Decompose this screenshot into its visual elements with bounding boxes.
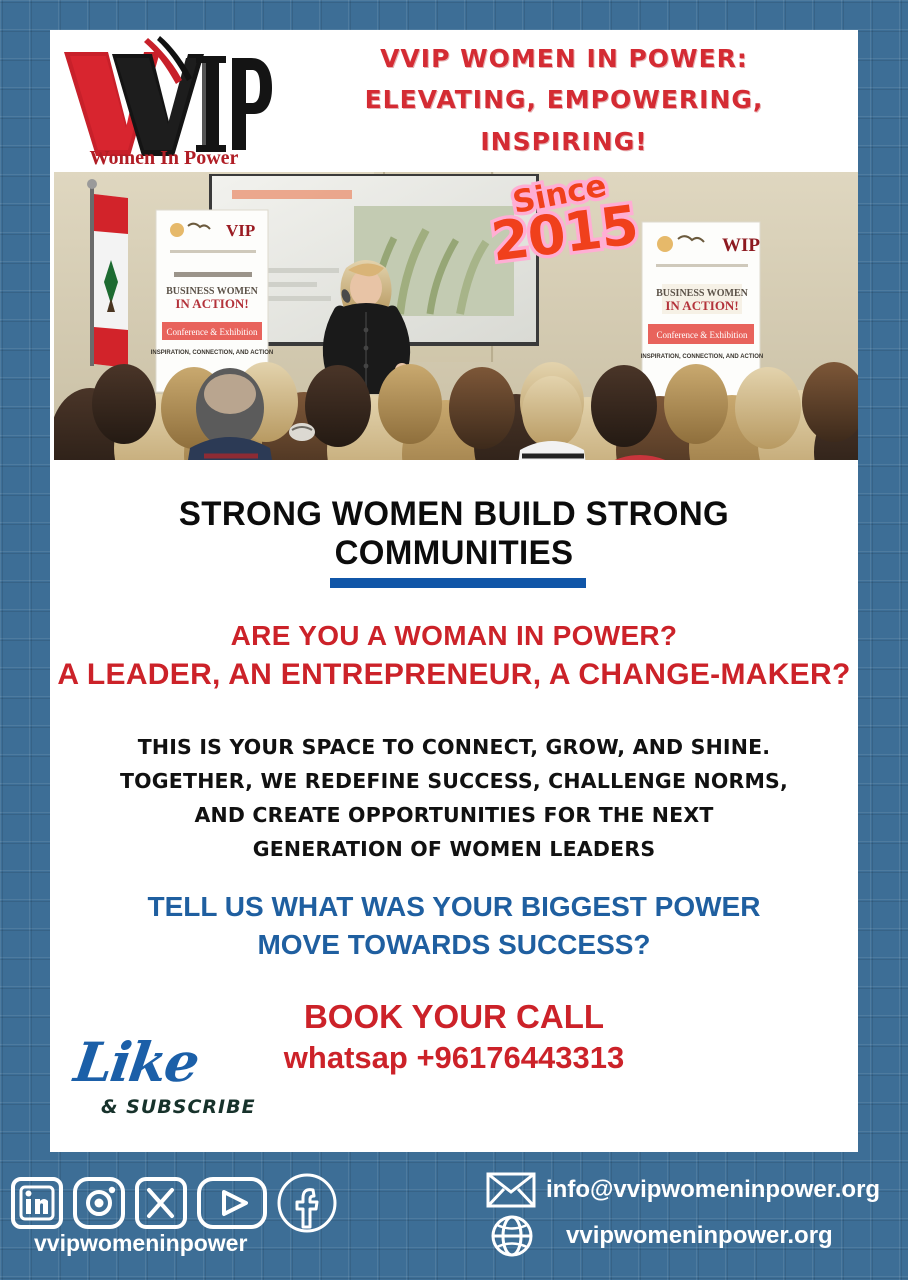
svg-text:Women In Power: Women In Power [90, 147, 239, 168]
svg-text:Conference & Exhibition: Conference & Exhibition [657, 330, 748, 340]
body-line-4: GENERATION OF WOMEN LEADERS [50, 832, 858, 866]
email-row[interactable]: info@vvipwomeninpower.org [486, 1172, 880, 1208]
social-links [10, 1172, 338, 1234]
header-title-line2: ELEVATING, EMPOWERING, INSPIRING! [278, 79, 850, 163]
header-titles: VVIP WOMEN IN POWER: ELEVATING, EMPOWERI… [278, 39, 858, 163]
social-handle: vvipwomeninpower [34, 1230, 247, 1257]
body-paragraph: THIS IS YOUR SPACE TO CONNECT, GROW, AND… [50, 730, 858, 866]
prompt-line-1: TELL US WHAT WAS YOUR BIGGEST POWER [50, 888, 858, 926]
question-line-1: ARE YOU A WOMAN IN POWER? [50, 620, 858, 652]
divider [330, 578, 586, 588]
body-line-3: AND CREATE OPPORTUNITIES FOR THE NEXT [50, 798, 858, 832]
website-row[interactable]: vvipwomeninpower.org [486, 1214, 880, 1258]
subscribe-label: & SUBSCRIBE [75, 1096, 275, 1118]
conference-photo-illustration: VIP BUSINESS WOMEN IN ACTION! Conference… [54, 172, 858, 460]
website-text: vvipwomeninpower.org [544, 1222, 833, 1250]
instagram-icon[interactable] [72, 1176, 126, 1230]
svg-text:IN ACTION!: IN ACTION! [665, 298, 738, 313]
svg-text:INSPIRATION, CONNECTION, AND A: INSPIRATION, CONNECTION, AND ACTION [641, 354, 763, 360]
header: Women In Power VVIP WOMEN IN POWER: ELEV… [50, 30, 858, 172]
page-title: STRONG WOMEN BUILD STRONG COMMUNITIES [62, 495, 846, 573]
footer: vvipwomeninpower info@vvipwomeninpower.o… [0, 1152, 908, 1280]
event-photo: VIP BUSINESS WOMEN IN ACTION! Conference… [54, 172, 858, 460]
like-label: Like [71, 1030, 280, 1094]
svg-text:IN ACTION!: IN ACTION! [175, 296, 248, 311]
svg-text:Conference & Exhibition: Conference & Exhibition [167, 327, 258, 337]
svg-text:INSPIRATION, CONNECTION, AND A: INSPIRATION, CONNECTION, AND ACTION [151, 350, 273, 356]
svg-text:VIP: VIP [226, 221, 255, 240]
header-title-line1: VVIP WOMEN IN POWER: [278, 39, 850, 79]
logo: Women In Power [50, 30, 278, 172]
question-line-2: A LEADER, AN ENTREPRENEUR, A CHANGE-MAKE… [50, 658, 858, 692]
like-subscribe-badge: Like & SUBSCRIBE [75, 1030, 275, 1150]
email-text: info@vvipwomeninpower.org [546, 1176, 880, 1204]
x-twitter-icon[interactable] [134, 1176, 188, 1230]
linkedin-icon[interactable] [10, 1176, 64, 1230]
flyer-card: Women In Power VVIP WOMEN IN POWER: ELEV… [50, 30, 858, 1152]
envelope-icon [486, 1172, 536, 1208]
vvip-logo-icon: Women In Power [56, 34, 272, 168]
body-line-1: THIS IS YOUR SPACE TO CONNECT, GROW, AND… [50, 730, 858, 764]
facebook-icon[interactable] [276, 1172, 338, 1234]
contact-info: info@vvipwomeninpower.org vvipwomeninpow… [486, 1172, 880, 1264]
prompt-question: TELL US WHAT WAS YOUR BIGGEST POWER MOVE… [50, 888, 858, 964]
youtube-icon[interactable] [196, 1176, 268, 1230]
svg-text:WIP: WIP [722, 235, 760, 256]
body-line-2: TOGETHER, WE REDEFINE SUCCESS, CHALLENGE… [50, 764, 858, 798]
globe-icon [490, 1214, 534, 1258]
prompt-line-2: MOVE TOWARDS SUCCESS? [50, 926, 858, 964]
